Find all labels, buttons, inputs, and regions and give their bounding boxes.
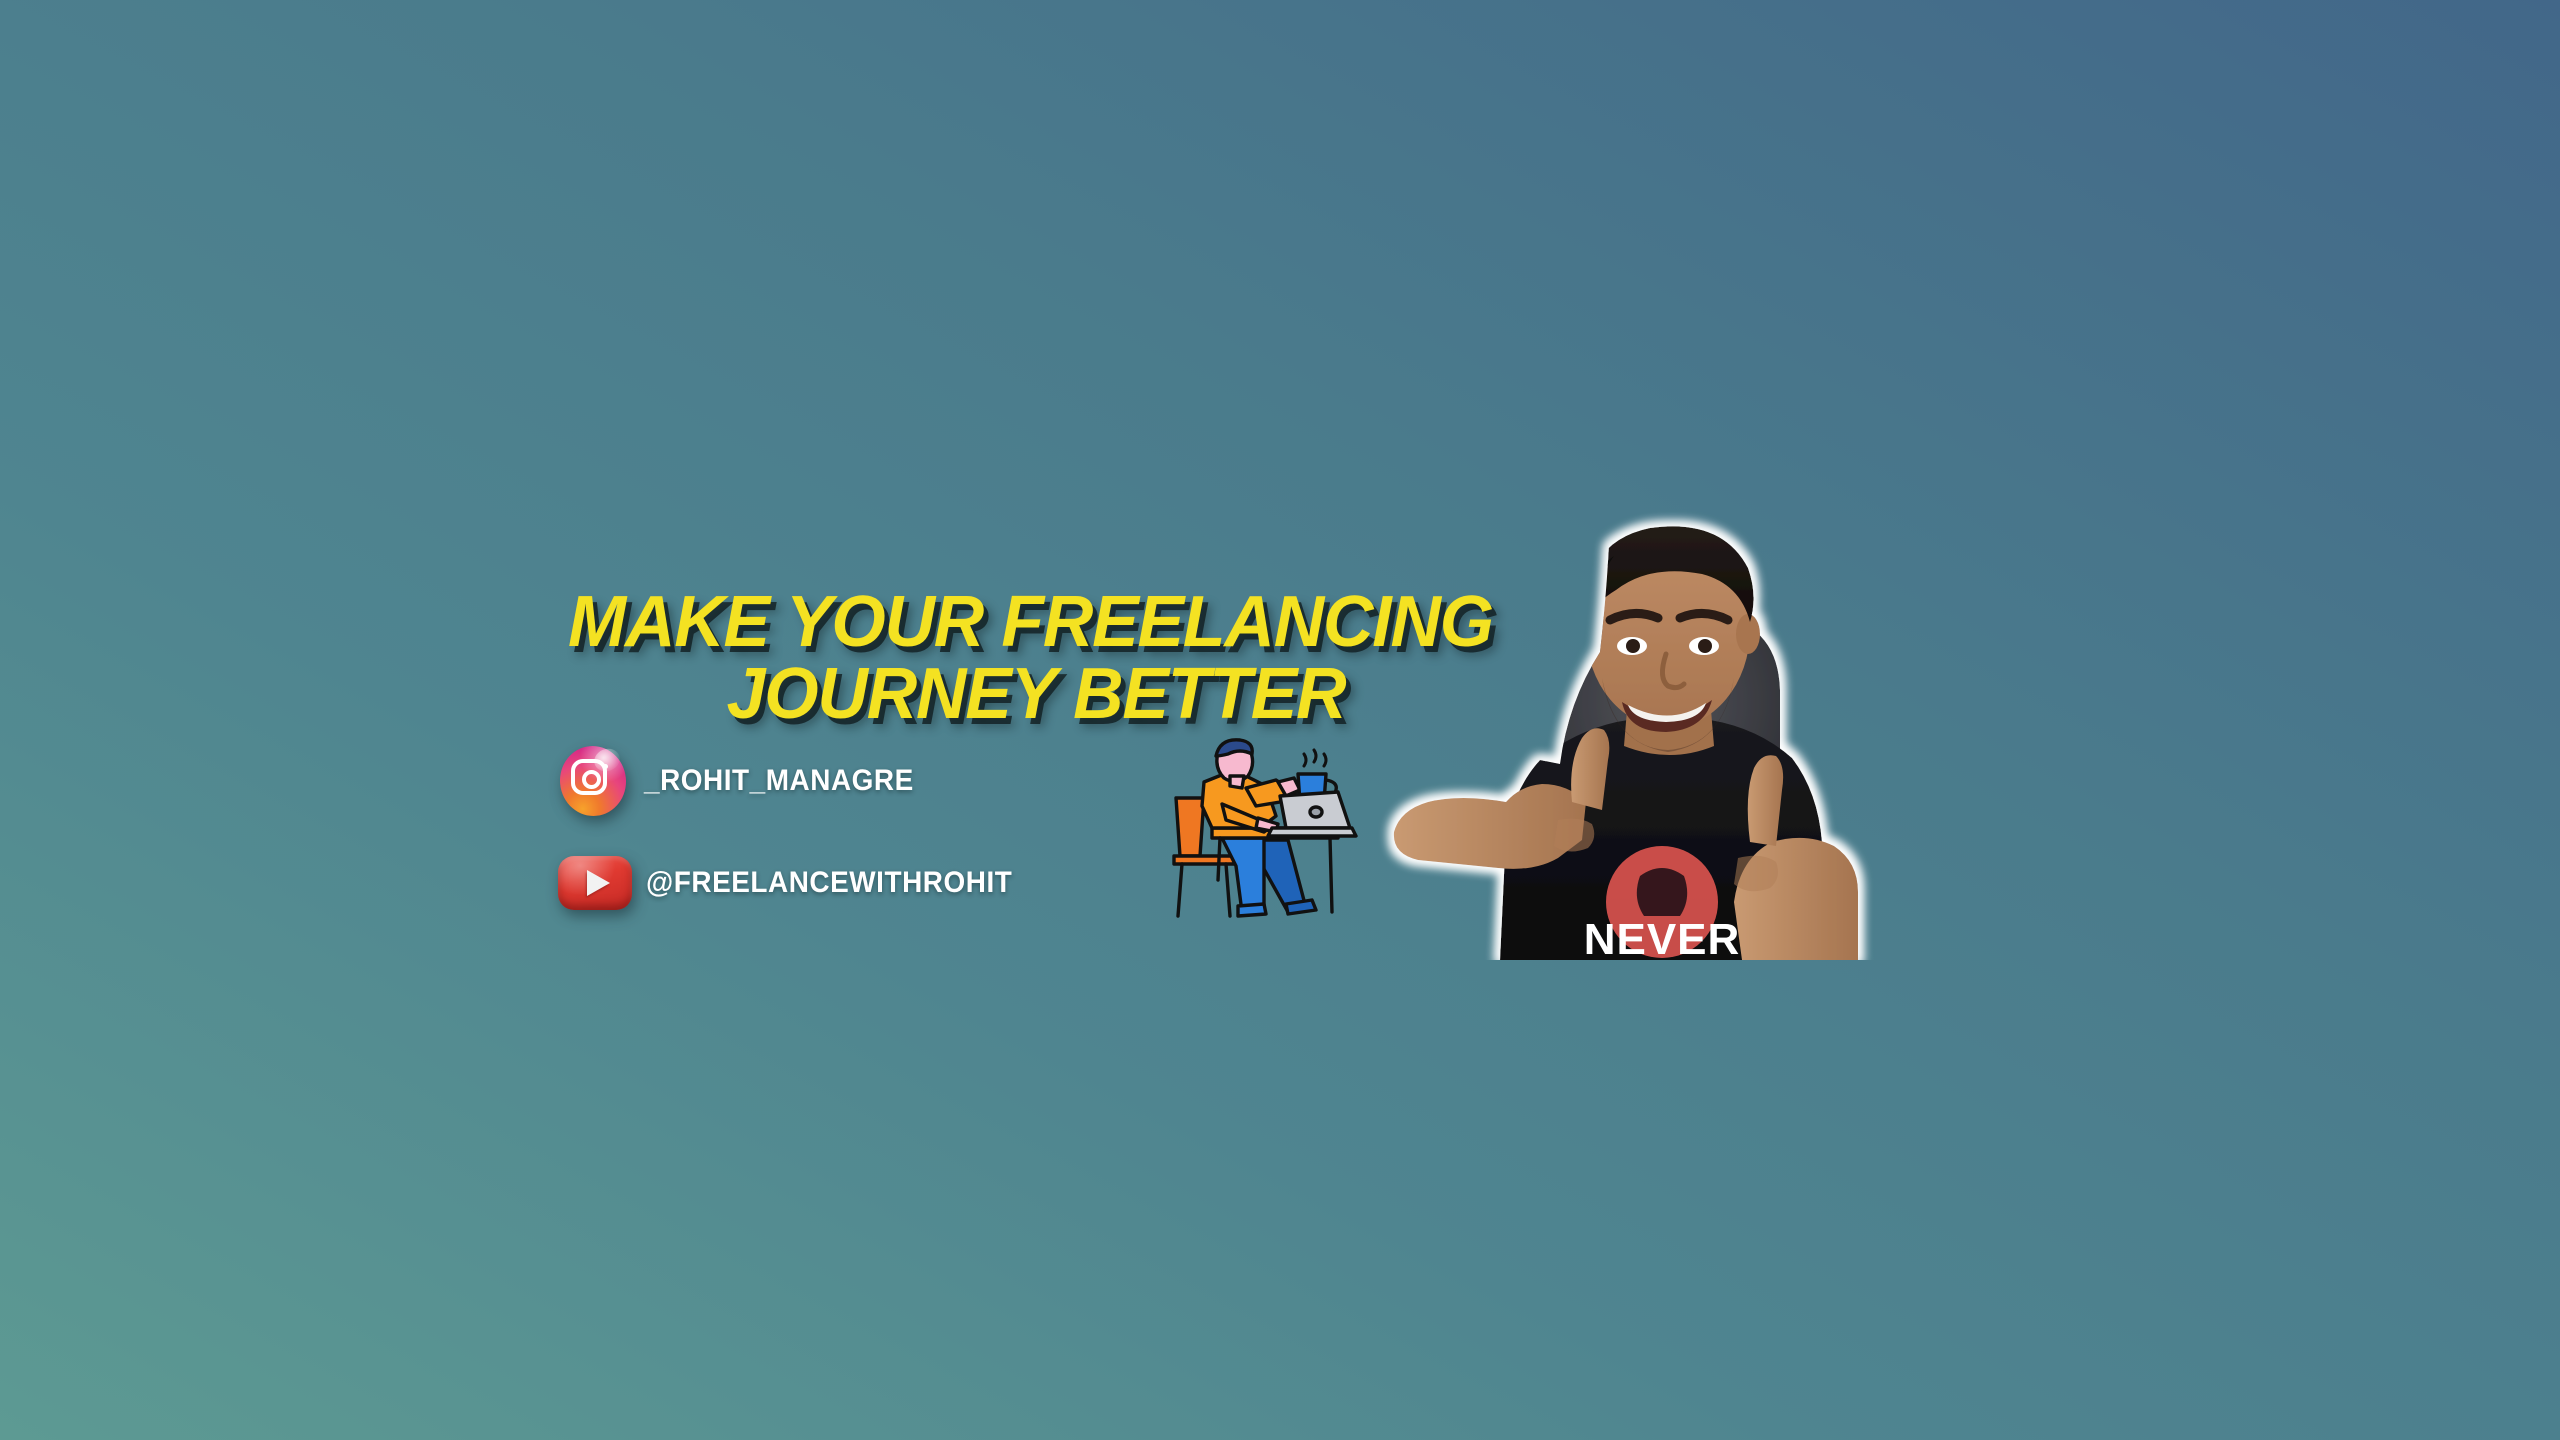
- banner-safe-area: MAKE YOUR FREELANCING JOURNEY BETTER _RO…: [540, 480, 2060, 960]
- youtube-handle: @FREELANCEWITHROHIT: [646, 866, 1012, 900]
- youtube-play-triangle: [587, 870, 610, 896]
- instagram-icon[interactable]: [558, 744, 628, 818]
- social-row-instagram[interactable]: _ROHIT_MANAGRE: [558, 735, 1040, 827]
- youtube-icon[interactable]: [558, 856, 632, 910]
- tshirt-never-text: NEVER: [1584, 915, 1741, 960]
- channel-banner: MAKE YOUR FREELANCING JOURNEY BETTER _RO…: [0, 0, 2560, 1440]
- instagram-icon-glyph: [571, 759, 613, 801]
- social-links-block: _ROHIT_MANAGRE @FREELANCEWITHROHIT: [558, 735, 1040, 929]
- instagram-camera-flash: [603, 764, 608, 769]
- instagram-handle: _ROHIT_MANAGRE: [644, 764, 914, 798]
- instagram-camera-lens: [582, 770, 601, 789]
- social-row-youtube[interactable]: @FREELANCEWITHROHIT: [558, 837, 1040, 929]
- channel-host-photo: NEVER: [1310, 502, 2010, 960]
